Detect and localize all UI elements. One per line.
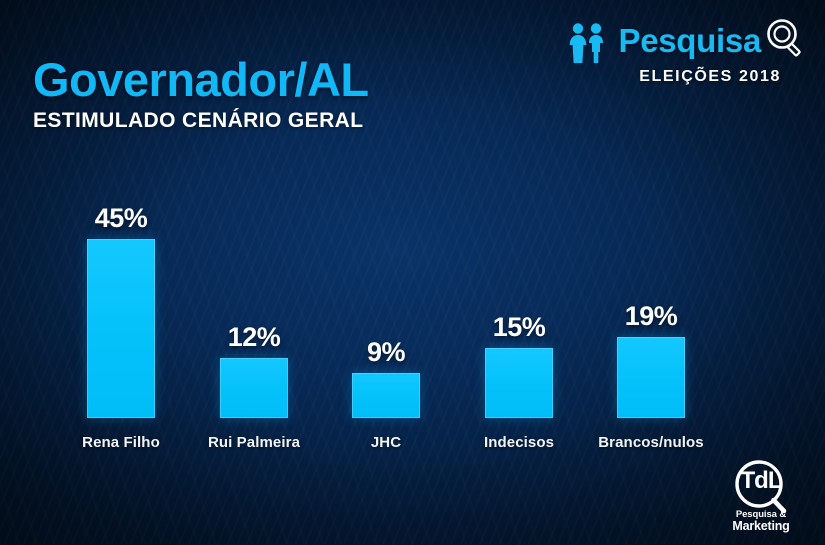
- magnifier-circle-icon: TdL: [728, 459, 794, 513]
- bar-rect: [485, 348, 553, 418]
- brand-monogram: TdL: [728, 469, 794, 493]
- bar-chart: 45%Rena Filho12%Rui Palmeira9%JHC15%Inde…: [0, 0, 825, 545]
- bar-value-label: 45%: [51, 203, 191, 234]
- brand-sub-line-2: Marketing: [732, 520, 789, 533]
- bar-value-label: 19%: [581, 301, 721, 332]
- bar-rect: [87, 239, 155, 418]
- bar-value-label: 9%: [316, 337, 456, 368]
- brand-lockup-bottom: TdL Pesquisa & Marketing: [715, 459, 807, 539]
- poll-result-slide: Governador/AL ESTIMULADO CENÁRIO GERAL P…: [0, 0, 825, 545]
- bar-rect: [617, 337, 685, 418]
- bar-value-label: 15%: [449, 312, 589, 343]
- bar-rect: [352, 373, 420, 418]
- bar-rect: [220, 358, 288, 418]
- bar-category-label: Brancos/nulos: [551, 434, 751, 451]
- bar-value-label: 12%: [184, 322, 324, 353]
